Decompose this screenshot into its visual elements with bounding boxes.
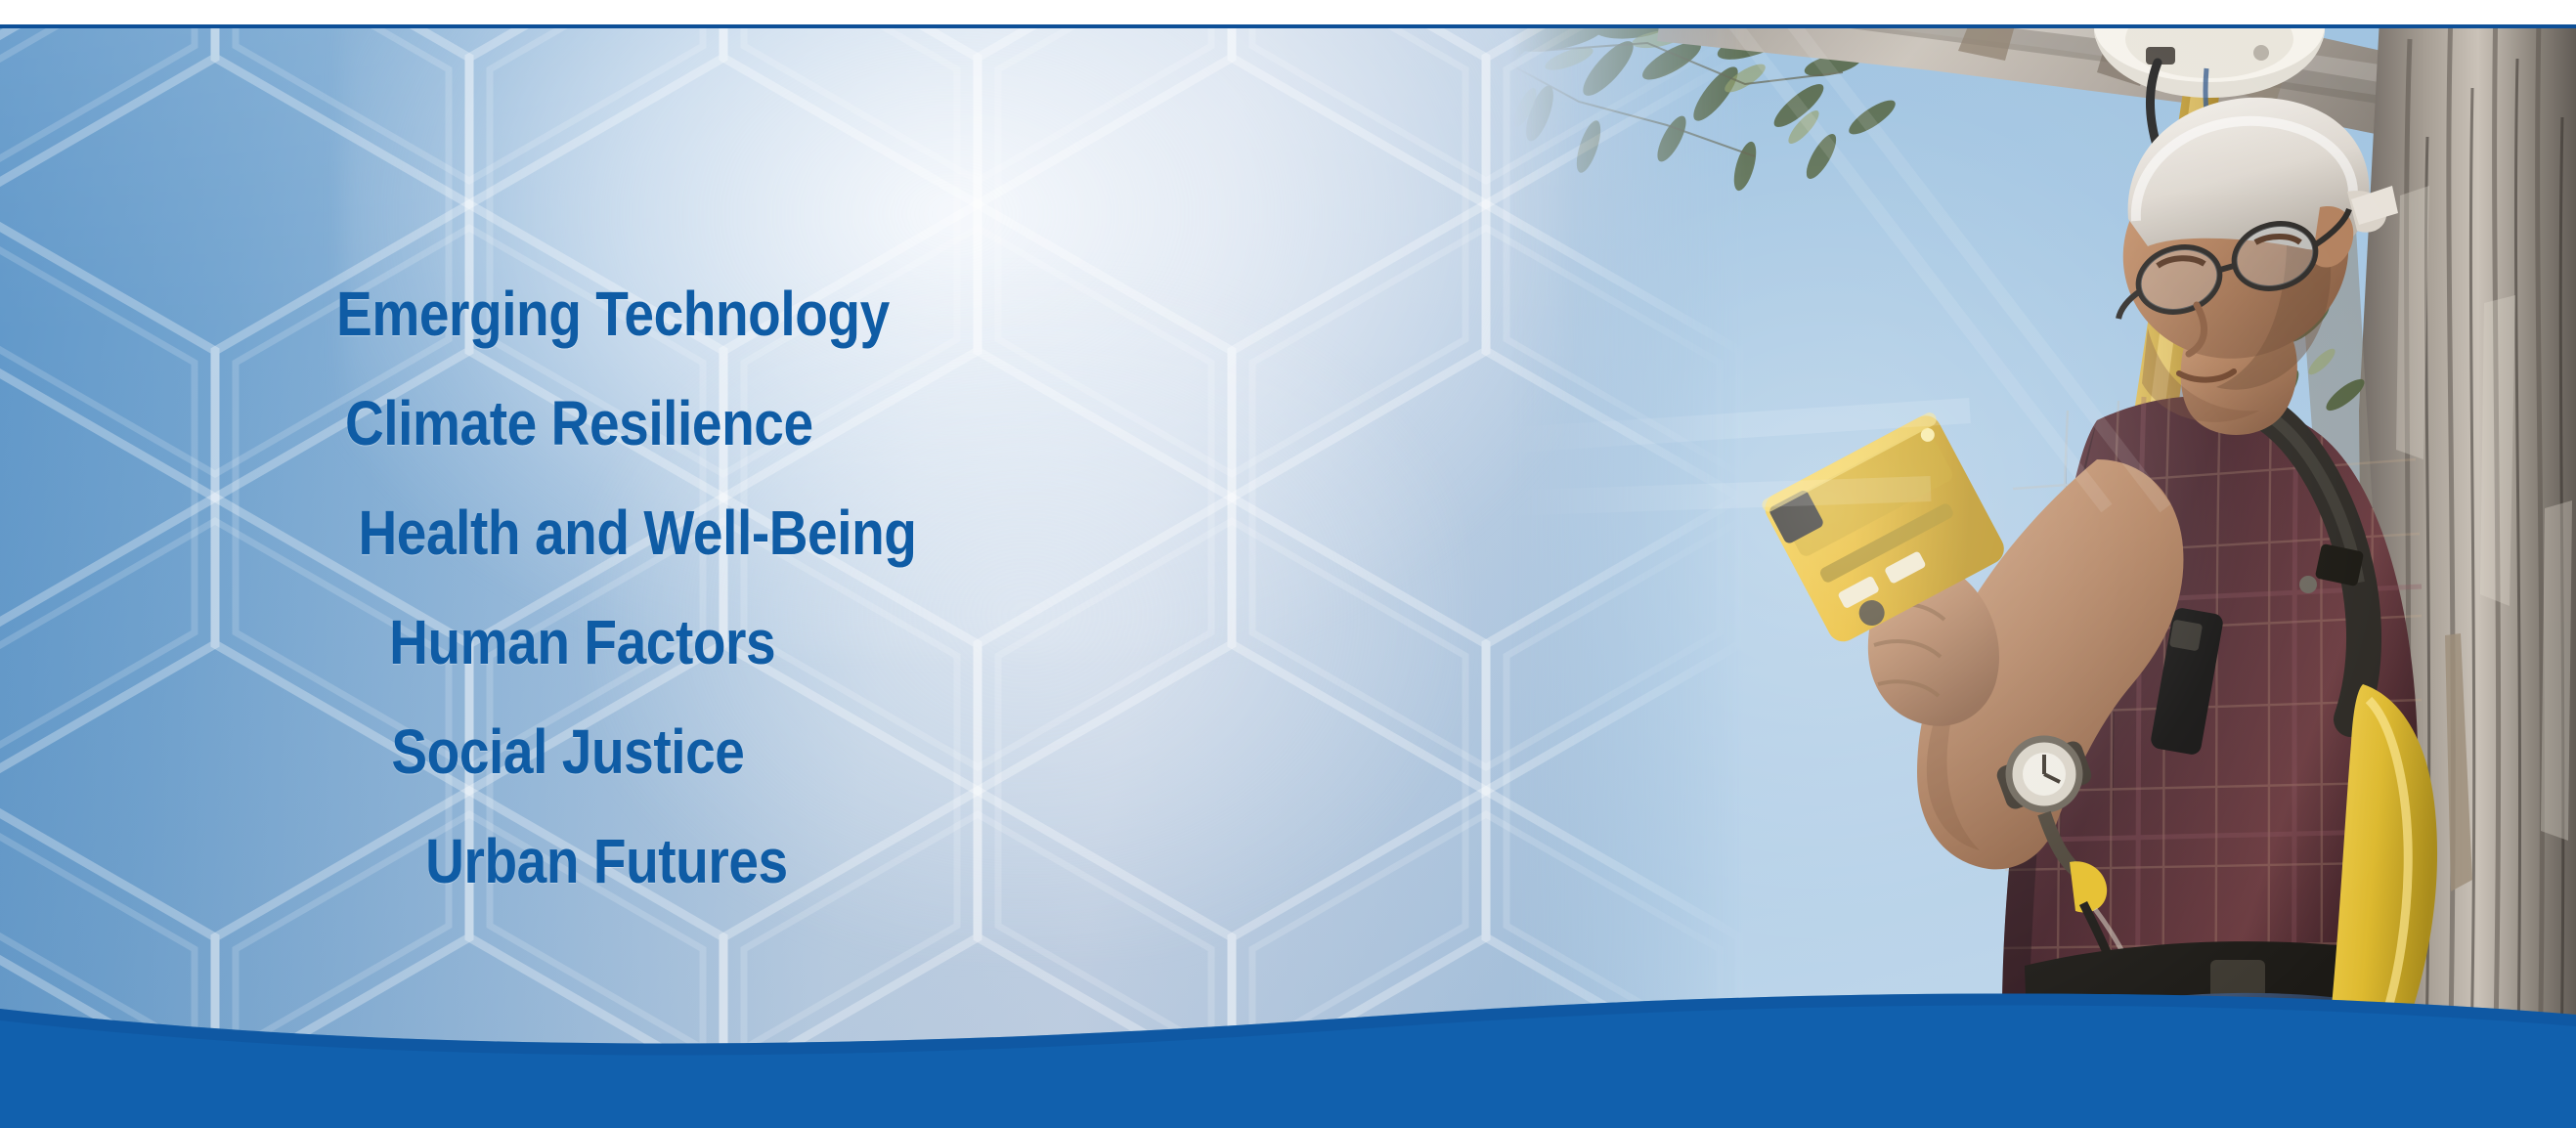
top-blue-rule (0, 24, 2576, 28)
headline-social-justice: Social Justice (391, 697, 744, 806)
top-white-strip (0, 0, 2576, 24)
bottom-wave-band (0, 933, 2576, 1128)
headline-health-and-well-being: Health and Well-Being (359, 478, 917, 587)
headline-human-factors: Human Factors (389, 587, 775, 697)
headline-climate-resilience: Climate Resilience (345, 369, 813, 478)
hero-banner: Trimble (0, 28, 2576, 1128)
headline-urban-futures: Urban Futures (425, 806, 788, 916)
banner-stage: Trimble (0, 0, 2576, 1128)
headline-emerging-technology: Emerging Technology (336, 259, 890, 369)
